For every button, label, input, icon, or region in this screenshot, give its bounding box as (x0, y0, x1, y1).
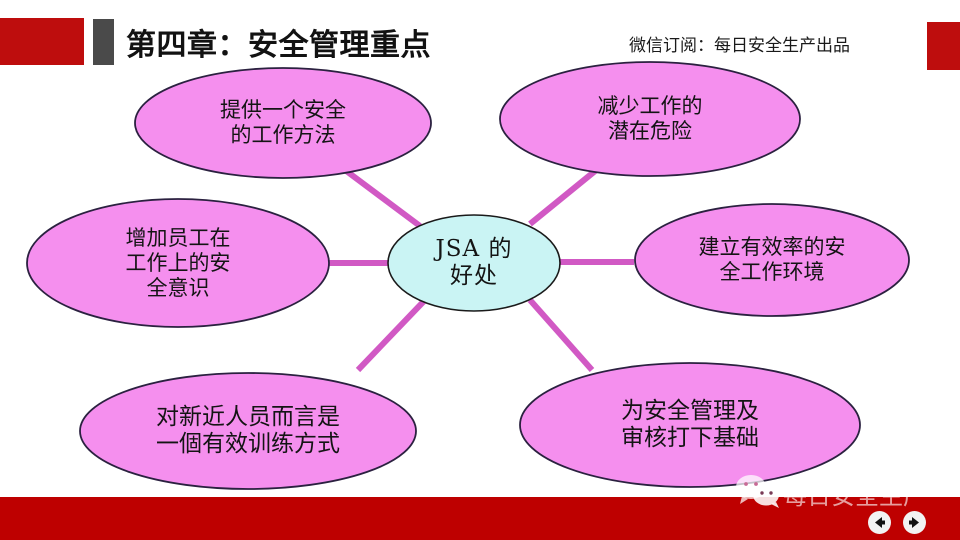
node-bottom-left-ellipse[interactable] (80, 373, 416, 489)
node-right-ellipse[interactable] (635, 204, 909, 316)
conn-bottom-right (530, 300, 592, 370)
mind-map-diagram (0, 0, 960, 540)
arrow-left-icon (872, 515, 887, 530)
slide-canvas: 第四章：安全管理重点 微信订阅：每日安全生产出品 提供一个安全 的工作方法减少工… (0, 0, 960, 540)
node-top-right-ellipse[interactable] (500, 62, 800, 176)
conn-top-left (345, 170, 420, 226)
arrow-right-icon (907, 515, 922, 530)
conn-top-right (530, 167, 600, 224)
node-top-left-ellipse[interactable] (135, 68, 431, 178)
wechat-icon (735, 474, 781, 508)
node-bottom-right-ellipse[interactable] (520, 363, 860, 487)
conn-bottom-left (358, 300, 425, 370)
center-ellipse[interactable] (388, 215, 560, 311)
watermark-text: 每日安全生产 (783, 476, 927, 511)
nodes-layer (27, 62, 909, 489)
watermark: 每日安全生产 (735, 474, 950, 514)
node-left-ellipse[interactable] (27, 199, 329, 327)
next-slide-button[interactable] (903, 511, 926, 534)
prev-slide-button[interactable] (868, 511, 891, 534)
